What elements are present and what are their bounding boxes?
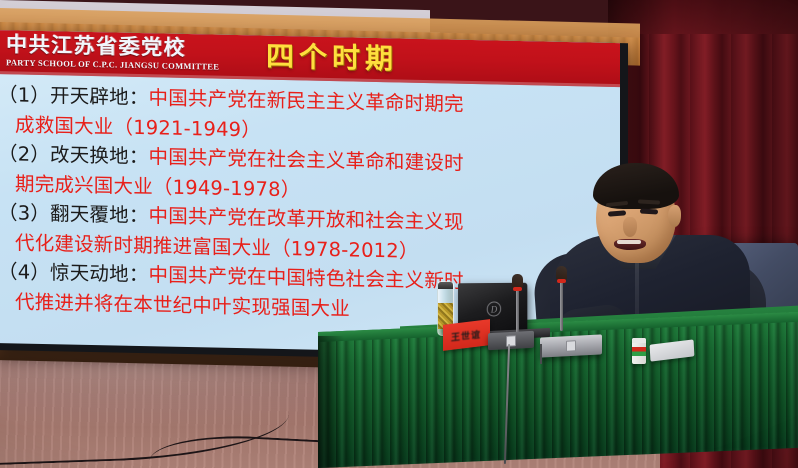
bullet-4-lead: 惊天动地：: [50, 261, 149, 286]
microphone-left-base[interactable]: [488, 331, 534, 350]
speaker-eye-right: [640, 209, 658, 215]
tea-bottle-cap: [438, 282, 453, 289]
laptop-logo-icon: D: [487, 301, 501, 317]
bullet-1-text-1: 中国共产党在新民主主义革命时期完: [149, 86, 464, 116]
microphone-right-neck: [560, 275, 563, 331]
nameplate: 王世谊: [443, 322, 490, 350]
bullet-2-text-1: 中国共产党在社会主义革命和建设时: [149, 145, 464, 175]
bullet-1-marker: （1）: [0, 83, 50, 107]
nameplate-text: 王世谊: [451, 327, 481, 343]
bullet-2-marker: （2）: [0, 142, 50, 166]
microphone-right-ring: [557, 279, 566, 283]
bullet-3-text-1: 中国共产党在改革开放和社会主义现: [149, 204, 464, 234]
speaker-nose: [623, 217, 637, 237]
bullet-3-lead: 翻天覆地：: [50, 202, 149, 227]
table-corner-shadow: [318, 336, 344, 468]
bullet-3-marker: （3）: [0, 201, 50, 225]
microphone-left-ring: [513, 287, 522, 291]
bullet-4-text-1: 中国共产党在中国特色社会主义新时: [149, 263, 464, 293]
bullet-4-marker: （4）: [0, 260, 50, 284]
microphone-right-button[interactable]: [566, 340, 576, 352]
pill-bottle-label: [632, 347, 646, 356]
microphone-right-base[interactable]: [540, 334, 602, 357]
school-identity: 中共江苏省委党校 PARTY SCHOOL OF C.P.C. JIANGSU …: [6, 33, 256, 72]
slide-title: 四个时期: [266, 41, 398, 76]
pill-bottle-cap: [632, 338, 646, 343]
lecture-scene: 中共江苏省委党校 PARTY SCHOOL OF C.P.C. JIANGSU …: [0, 0, 798, 468]
bullet-2-lead: 改天换地：: [50, 143, 149, 168]
speaker-ear: [668, 205, 681, 227]
speaker-mouth: [614, 239, 646, 250]
projection-screen-frame: 中共江苏省委党校 PARTY SCHOOL OF C.P.C. JIANGSU …: [0, 30, 628, 363]
bullet-1-lead: 开天辟地：: [50, 84, 149, 109]
nameplate-face: 王世谊: [443, 319, 490, 351]
pill-bottle: [632, 338, 646, 364]
microphone-cable-secondary: [540, 344, 542, 364]
